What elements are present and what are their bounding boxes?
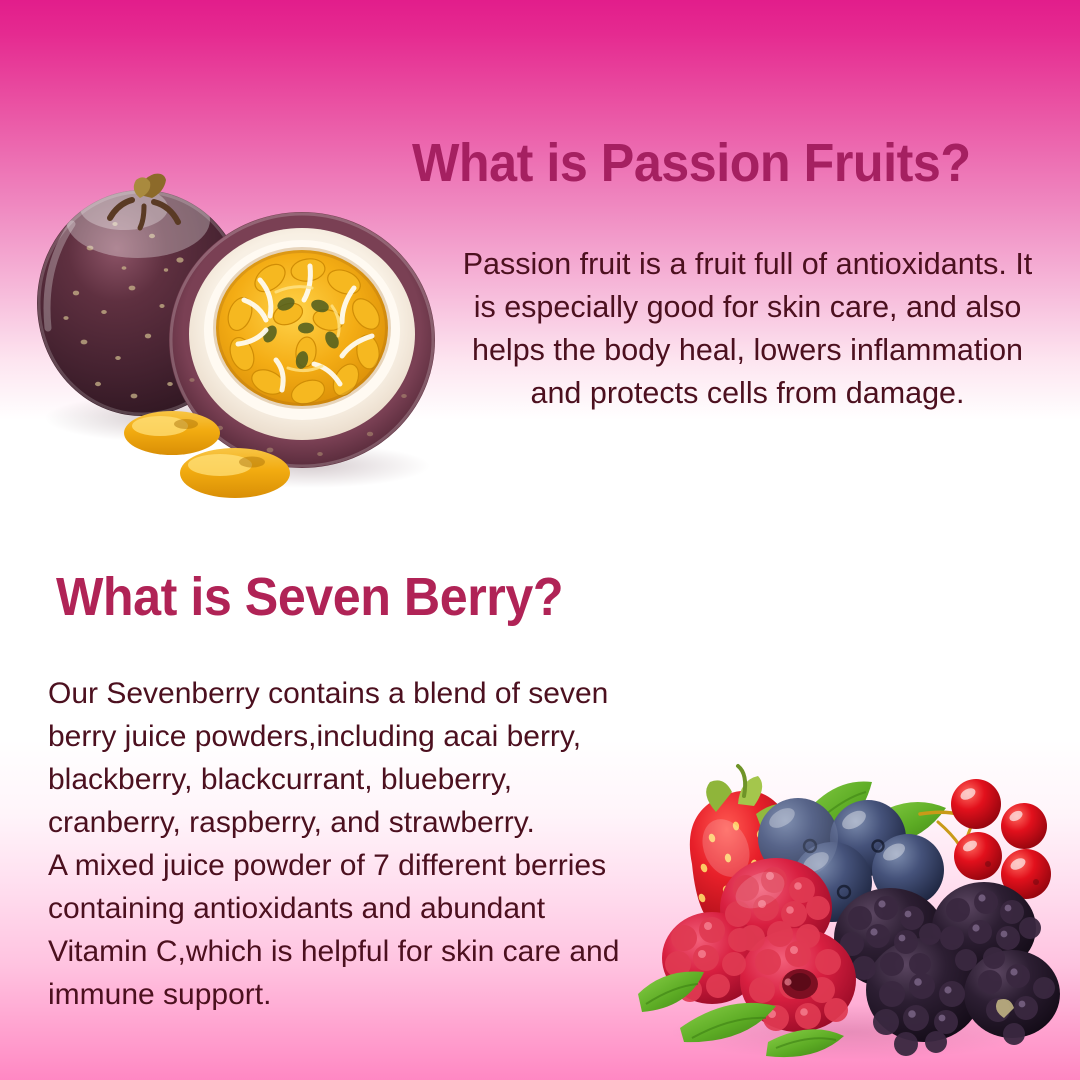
body-text-seven-berry: Our Sevenberry contains a blend of seven… <box>48 672 648 1016</box>
infographic-poster: What is Passion Fruits? Passion fruit is… <box>0 0 1080 1080</box>
body-text-passion-fruit: Passion fruit is a fruit full of antioxi… <box>455 243 1040 415</box>
mixed-berries-image <box>620 742 1072 1078</box>
page-title-seven-berry: What is Seven Berry? <box>56 570 563 624</box>
page-title-passion-fruit: What is Passion Fruits? <box>412 136 971 190</box>
